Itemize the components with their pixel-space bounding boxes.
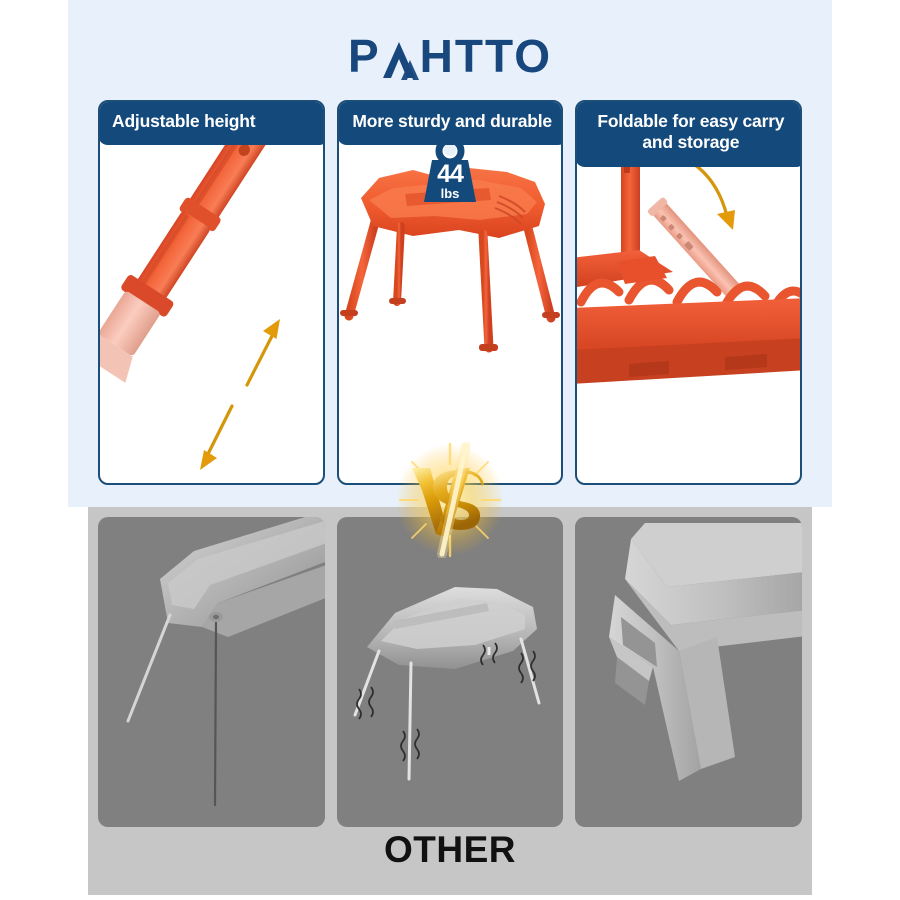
arrow-up-icon bbox=[247, 319, 280, 385]
gray-stand-wobbly-legs-art bbox=[337, 517, 564, 827]
feature-panel-foldable: Foldable for easy carry and storage bbox=[575, 100, 802, 485]
logo-text-suffix: HTTO bbox=[420, 33, 552, 79]
competitor-panel-fixed-leg bbox=[575, 517, 802, 827]
infographic-page: P HTTO bbox=[0, 0, 900, 900]
competitor-panel-wobbly-stand bbox=[337, 517, 564, 827]
panel-artwork-adjustable-leg bbox=[100, 102, 323, 483]
feature-panel-adjustable-height: Adjustable height bbox=[98, 100, 325, 485]
mountain-peak-icon bbox=[379, 40, 423, 80]
versus-badge-icon bbox=[396, 442, 504, 558]
brand-logo: P HTTO bbox=[68, 26, 832, 86]
weight-unit: lbs bbox=[419, 187, 481, 200]
competitor-panel-thin-wire-legs bbox=[98, 517, 325, 827]
panel-title-foldable: Foldable for easy carry and storage bbox=[575, 100, 802, 167]
weight-value: 44 bbox=[419, 162, 481, 187]
competitor-panels bbox=[98, 517, 802, 827]
competitor-section: OTHER bbox=[88, 507, 812, 895]
panel-title-adjustable-height: Adjustable height bbox=[98, 100, 325, 145]
gray-fixed-leg-closeup-art bbox=[575, 517, 802, 827]
feature-panels: Adjustable height bbox=[98, 100, 802, 485]
brand-section: P HTTO bbox=[68, 0, 832, 507]
gray-stand-thin-wire-leg-art bbox=[98, 517, 325, 827]
other-label: OTHER bbox=[88, 829, 812, 871]
weight-icon: 44 lbs bbox=[419, 138, 481, 204]
feature-panel-more-sturdy: 44 lbs More sturdy and durable bbox=[337, 100, 564, 485]
logo-text-prefix: P bbox=[348, 33, 381, 79]
panel-title-more-sturdy: More sturdy and durable bbox=[337, 100, 564, 145]
arrow-down-icon bbox=[200, 406, 232, 470]
